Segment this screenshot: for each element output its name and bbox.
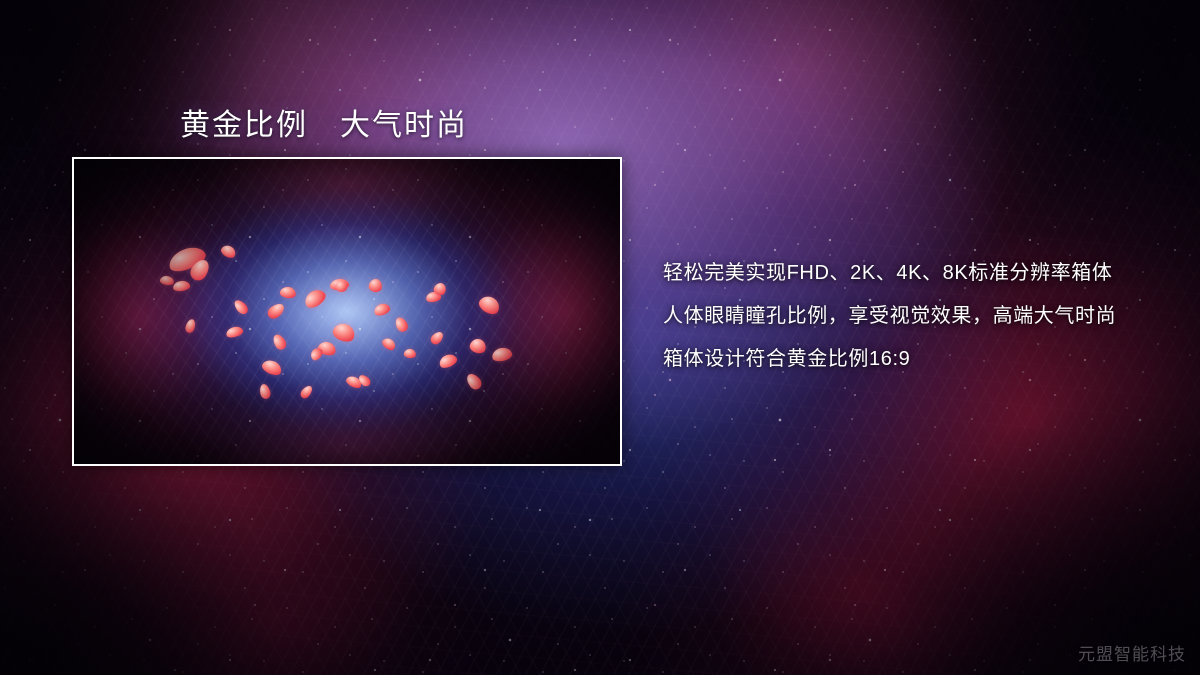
- body-line: 箱体设计符合黄金比例16:9: [663, 338, 1163, 381]
- petal-icon: [271, 332, 289, 351]
- petal-icon: [159, 275, 174, 286]
- body-line: 人体眼睛瞳孔比例，享受视觉效果，高端大气时尚: [663, 295, 1163, 338]
- slide-title: 黄金比例 大气时尚: [180, 100, 468, 144]
- petal-icon: [302, 286, 329, 311]
- petal-icon: [468, 337, 487, 355]
- petal-icon: [260, 357, 284, 377]
- body-copy: 轻松完美实现FHD、2K、4K、8K标准分辨率箱体 人体眼睛瞳孔比例，享受视觉效…: [663, 252, 1163, 381]
- petal-icon: [172, 280, 190, 292]
- petal-icon: [279, 286, 296, 299]
- petal-icon: [393, 315, 410, 333]
- petal-icon: [336, 281, 347, 292]
- petal-icon: [265, 301, 287, 322]
- petal-icon: [491, 346, 513, 363]
- petal-icon: [429, 329, 446, 346]
- photo-vignette: [74, 159, 620, 464]
- petal-icon: [225, 325, 244, 339]
- photo-nebula-backdrop: [74, 159, 620, 464]
- petal-icon: [464, 371, 484, 392]
- body-line: 轻松完美实现FHD、2K、4K、8K标准分辨率箱体: [663, 252, 1163, 295]
- petal-icon: [368, 278, 383, 293]
- petal-icon: [219, 243, 237, 260]
- petal-icon: [331, 321, 357, 344]
- photo-starfield-icon: [74, 159, 620, 464]
- slide-canvas: 黄金比例 大气时尚: [0, 0, 1200, 675]
- petal-icon: [299, 384, 315, 401]
- petal-icon: [380, 336, 397, 352]
- photo-frame: [72, 157, 622, 466]
- petal-icon: [476, 293, 502, 317]
- watermark: 元盟智能科技: [1078, 640, 1186, 665]
- petal-icon: [373, 302, 392, 318]
- petal-icon: [184, 318, 197, 334]
- petal-icon: [404, 348, 417, 358]
- petal-icon: [232, 298, 250, 317]
- petal-icon: [437, 352, 458, 370]
- petal-icon: [258, 383, 271, 400]
- photo-filaments: [74, 159, 620, 464]
